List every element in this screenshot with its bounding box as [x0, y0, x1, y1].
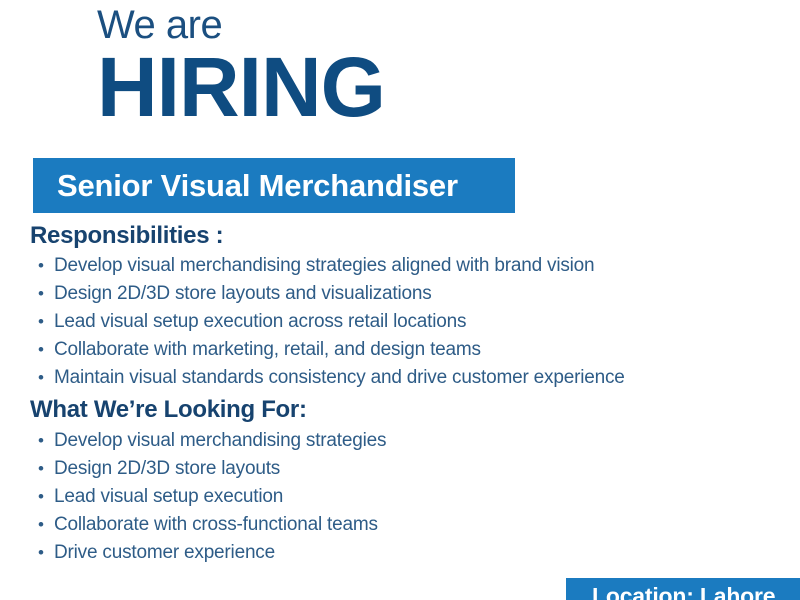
list-item: • Lead visual setup execution: [38, 483, 386, 511]
location-banner: Location: Lahore: [566, 578, 800, 600]
bullet-icon: •: [38, 308, 54, 336]
list-item: • Design 2D/3D store layouts and visuali…: [38, 280, 625, 308]
bullet-icon: •: [38, 539, 54, 567]
looking-for-list: • Develop visual merchandising strategie…: [38, 427, 386, 567]
bullet-icon: •: [38, 455, 54, 483]
list-item-text: Design 2D/3D store layouts: [54, 455, 280, 483]
job-title-text: Senior Visual Merchandiser: [33, 168, 458, 204]
list-item-text: Collaborate with cross-functional teams: [54, 511, 378, 539]
list-item-text: Collaborate with marketing, retail, and …: [54, 336, 481, 364]
list-item-text: Lead visual setup execution across retai…: [54, 308, 466, 336]
list-item-text: Maintain visual standards consistency an…: [54, 364, 625, 392]
bullet-icon: •: [38, 336, 54, 364]
list-item: • Collaborate with cross-functional team…: [38, 511, 386, 539]
bullet-icon: •: [38, 511, 54, 539]
list-item-text: Drive customer experience: [54, 539, 275, 567]
list-item: • Lead visual setup execution across ret…: [38, 308, 625, 336]
headline-block: We are HIRING: [97, 4, 385, 128]
list-item-text: Develop visual merchandising strategies: [54, 427, 386, 455]
headline-main: HIRING: [97, 48, 385, 128]
list-item: • Maintain visual standards consistency …: [38, 364, 625, 392]
list-item: • Drive customer experience: [38, 539, 386, 567]
bullet-icon: •: [38, 280, 54, 308]
list-item: • Collaborate with marketing, retail, an…: [38, 336, 625, 364]
bullet-icon: •: [38, 252, 54, 280]
job-title-banner: Senior Visual Merchandiser: [33, 158, 515, 213]
list-item-text: Develop visual merchandising strategies …: [54, 252, 594, 280]
hiring-poster: We are HIRING Senior Visual Merchandiser…: [0, 0, 800, 600]
list-item: • Develop visual merchandising strategie…: [38, 252, 625, 280]
looking-for-heading: What We’re Looking For:: [30, 396, 307, 424]
list-item-text: Lead visual setup execution: [54, 483, 283, 511]
responsibilities-heading: Responsibilities :: [30, 222, 223, 250]
list-item-text: Design 2D/3D store layouts and visualiza…: [54, 280, 432, 308]
list-item: • Design 2D/3D store layouts: [38, 455, 386, 483]
list-item: • Develop visual merchandising strategie…: [38, 427, 386, 455]
location-text: Location: Lahore: [592, 583, 775, 600]
bullet-icon: •: [38, 364, 54, 392]
bullet-icon: •: [38, 427, 54, 455]
bullet-icon: •: [38, 483, 54, 511]
responsibilities-list: • Develop visual merchandising strategie…: [38, 252, 625, 392]
